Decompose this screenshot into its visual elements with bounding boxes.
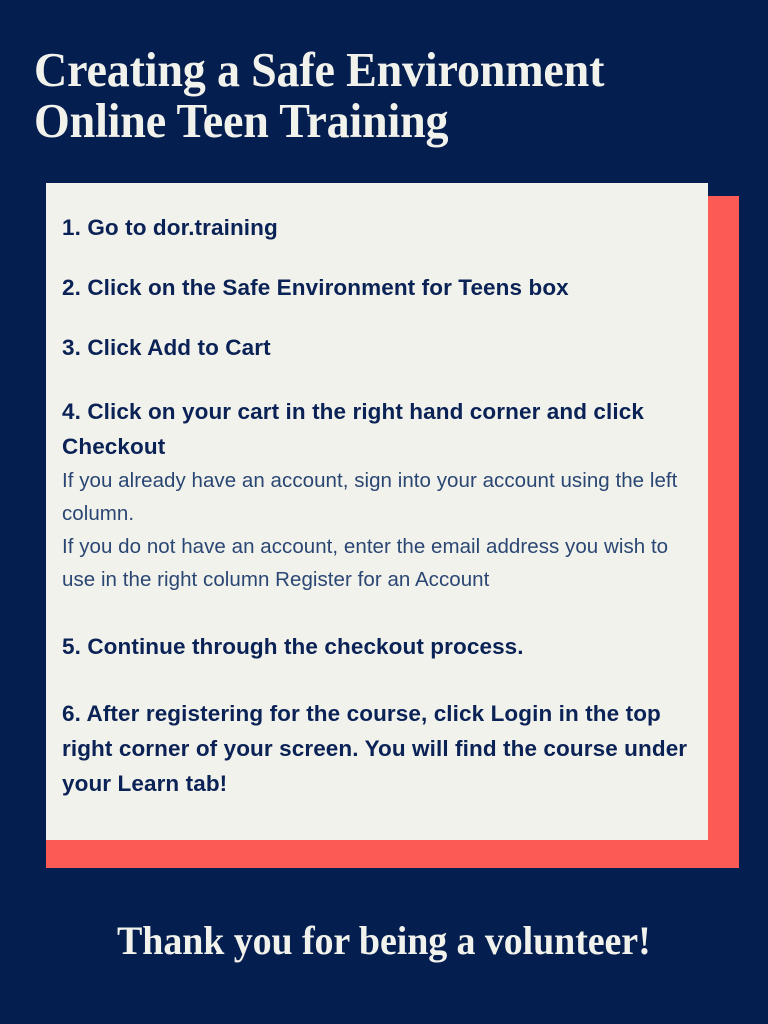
page-title: Creating a Safe Environment Online Teen …	[34, 44, 740, 146]
instruction-step-4-heading: 4. Click on your cart in the right hand …	[62, 394, 692, 464]
instruction-step-4: 4. Click on your cart in the right hand …	[62, 394, 692, 596]
instructions-card: 1. Go to dor.training 2. Click on the Sa…	[46, 183, 708, 840]
instruction-step-6: 6. After registering for the course, cli…	[62, 696, 692, 801]
instruction-step-3-heading: 3. Click Add to Cart	[62, 330, 692, 365]
instruction-step-5: 5. Continue through the checkout process…	[62, 629, 692, 664]
footer-thank-you-text: Thank you for being a volunteer!	[117, 916, 651, 966]
instruction-step-1: 1. Go to dor.training	[62, 210, 692, 245]
instruction-step-2: 2. Click on the Safe Environment for Tee…	[62, 270, 692, 305]
page-title-line-1: Creating a Safe Environment	[34, 44, 698, 95]
instruction-step-1-heading: 1. Go to dor.training	[62, 210, 692, 245]
instruction-step-5-heading: 5. Continue through the checkout process…	[62, 629, 692, 664]
instruction-step-3: 3. Click Add to Cart	[62, 330, 692, 365]
footer: Thank you for being a volunteer!	[0, 916, 768, 966]
instruction-step-6-heading: 6. After registering for the course, cli…	[62, 696, 692, 801]
page-title-line-2: Online Teen Training	[34, 95, 698, 146]
poster-canvas: Creating a Safe Environment Online Teen …	[0, 0, 768, 1024]
instruction-step-4-body-line-2: If you do not have an account, enter the…	[62, 530, 692, 596]
instruction-step-4-body-line-1: If you already have an account, sign int…	[62, 464, 692, 530]
instruction-step-2-heading: 2. Click on the Safe Environment for Tee…	[62, 270, 692, 305]
